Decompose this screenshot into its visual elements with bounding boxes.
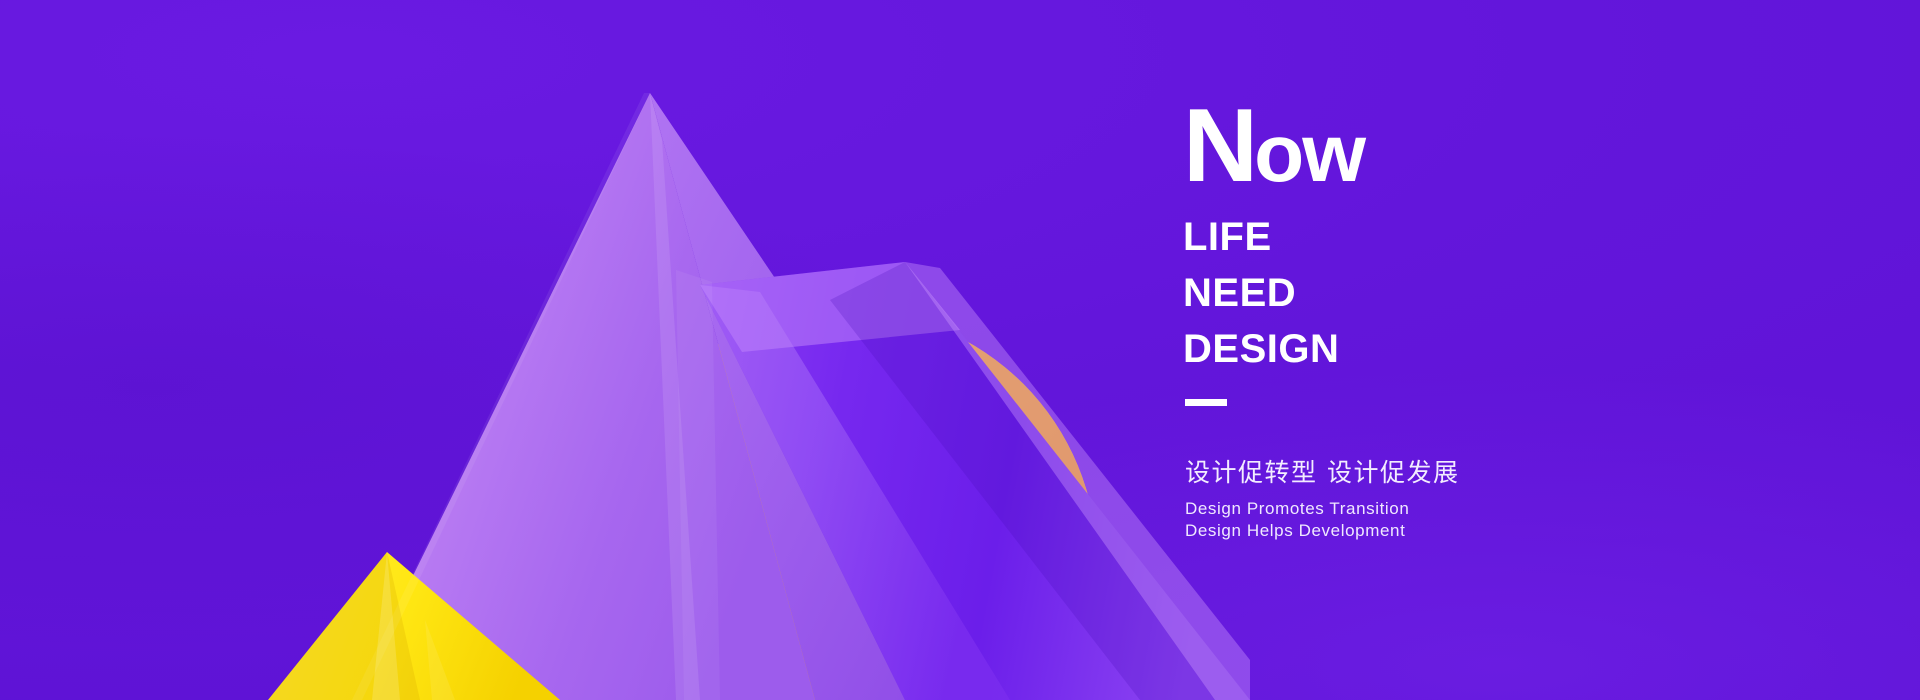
kicker-line-design: DESIGN — [1183, 327, 1703, 371]
divider-rule — [1185, 399, 1227, 406]
kicker-line-need: NEED — [1183, 271, 1703, 315]
copy-block: Now LIFE NEED DESIGN 设计促转型 设计促发展 Design … — [1183, 104, 1703, 542]
english-tagline-line-2: Design Helps Development — [1185, 520, 1703, 542]
headline-ow: ow — [1254, 108, 1364, 199]
headline-n: N — [1183, 88, 1254, 204]
kicker-line-life: LIFE — [1183, 215, 1703, 259]
chinese-tagline: 设计促转型 设计促发展 — [1185, 458, 1703, 488]
hero-banner: Now LIFE NEED DESIGN 设计促转型 设计促发展 Design … — [0, 0, 1920, 700]
headline-now: Now — [1183, 104, 1703, 189]
english-tagline: Design Promotes Transition Design Helps … — [1185, 498, 1703, 542]
english-tagline-line-1: Design Promotes Transition — [1185, 498, 1703, 520]
kicker-lines: LIFE NEED DESIGN — [1183, 215, 1703, 371]
geometric-artwork — [0, 0, 1250, 700]
